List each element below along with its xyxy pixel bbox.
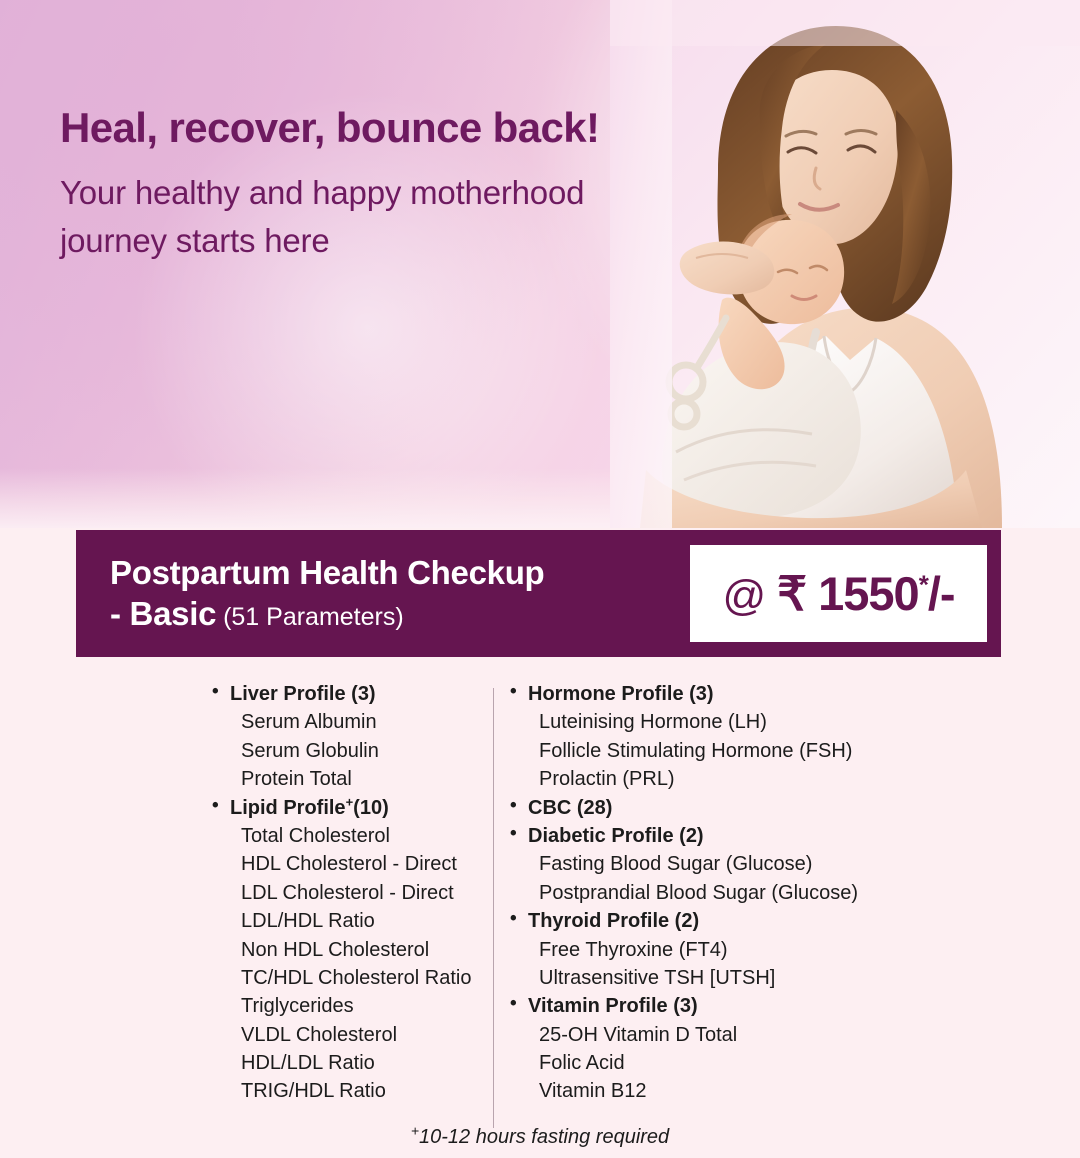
parameter-group-heading: Liver Profile (3)	[210, 680, 480, 708]
parameter-item: Fasting Blood Sugar (Glucose)	[508, 850, 928, 878]
price-currency-symbol: ₹	[777, 567, 806, 620]
package-title-line2: - Basic (51 Parameters)	[110, 594, 690, 634]
parameter-group-heading: Hormone Profile (3)	[508, 680, 928, 708]
column-divider	[493, 688, 494, 1128]
parameters-left-column: Liver Profile (3) Serum Albumin Serum Gl…	[210, 680, 480, 1106]
parameter-item: Non HDL Cholesterol	[210, 936, 480, 964]
package-title-block: Postpartum Health Checkup - Basic (51 Pa…	[76, 553, 690, 634]
parameter-group-heading: Thyroid Profile (2)	[508, 907, 928, 935]
parameter-group: Liver Profile (3) Serum Albumin Serum Gl…	[210, 680, 480, 794]
postpartum-health-checkup-poster: Heal, recover, bounce back! Your healthy…	[0, 0, 1080, 1158]
package-title-bar: Postpartum Health Checkup - Basic (51 Pa…	[76, 530, 1001, 657]
parameter-item: Folic Acid	[508, 1049, 928, 1077]
parameter-item: VLDL Cholesterol	[210, 1021, 480, 1049]
parameters-right-column: Hormone Profile (3) Luteinising Hormone …	[508, 680, 928, 1106]
parameter-item: Postprandial Blood Sugar (Glucose)	[508, 879, 928, 907]
parameter-item: Follicle Stimulating Hormone (FSH)	[508, 737, 928, 765]
price-text: @ ₹ 1550*/-	[722, 570, 954, 618]
package-parameter-count: (51 Parameters)	[216, 603, 404, 631]
footnote-text: 10-12 hours fasting required	[419, 1126, 669, 1148]
parameter-item: HDL/LDL Ratio	[210, 1049, 480, 1077]
parameter-item: HDL Cholesterol - Direct	[210, 850, 480, 878]
parameter-item: TRIG/HDL Ratio	[210, 1077, 480, 1105]
package-variant-label: - Basic	[110, 595, 216, 632]
parameter-group: Lipid Profile+(10) Total Cholesterol HDL…	[210, 794, 480, 1106]
footnote-superscript-marker: +	[411, 1122, 419, 1138]
parameter-group: Hormone Profile (3) Luteinising Hormone …	[508, 680, 928, 794]
parameter-item: Prolactin (PRL)	[508, 765, 928, 793]
price-amount: 1550	[818, 567, 919, 620]
parameter-group: CBC (28)	[508, 794, 928, 822]
parameter-item: Serum Albumin	[210, 708, 480, 736]
hero-headline: Heal, recover, bounce back!	[60, 105, 700, 151]
parameter-item: Vitamin B12	[508, 1077, 928, 1105]
parameter-group-heading: Diabetic Profile (2)	[508, 822, 928, 850]
hero-text-block: Heal, recover, bounce back! Your healthy…	[60, 105, 700, 266]
hero-subheadline: Your healthy and happy motherhood journe…	[60, 169, 700, 265]
parameter-item: Free Thyroxine (FT4)	[508, 936, 928, 964]
parameter-item: TC/HDL Cholesterol Ratio	[210, 964, 480, 992]
parameter-group-heading: Lipid Profile+(10)	[210, 794, 480, 822]
parameter-group-name: Lipid Profile	[230, 797, 346, 819]
package-title-line1: Postpartum Health Checkup	[110, 553, 690, 593]
parameter-item: Protein Total	[210, 765, 480, 793]
parameter-item: Total Cholesterol	[210, 822, 480, 850]
parameter-item: LDL Cholesterol - Direct	[210, 879, 480, 907]
parameters-section: Liver Profile (3) Serum Albumin Serum Gl…	[0, 680, 1080, 1128]
parameter-item: LDL/HDL Ratio	[210, 907, 480, 935]
parameter-group-heading: Vitamin Profile (3)	[508, 992, 928, 1020]
parameter-item: Triglycerides	[210, 992, 480, 1020]
fasting-footnote: +10-12 hours fasting required	[0, 1126, 1080, 1149]
parameter-group: Thyroid Profile (2) Free Thyroxine (FT4)…	[508, 907, 928, 992]
price-box: @ ₹ 1550*/-	[690, 545, 987, 642]
parameter-group-heading: CBC (28)	[508, 794, 928, 822]
hero-banner: Heal, recover, bounce back! Your healthy…	[0, 0, 1080, 528]
parameter-item: 25-OH Vitamin D Total	[508, 1021, 928, 1049]
price-at-symbol: @	[722, 572, 765, 620]
parameter-group-count: (10)	[353, 797, 389, 819]
parameter-item: Luteinising Hormone (LH)	[508, 708, 928, 736]
parameter-group: Vitamin Profile (3) 25-OH Vitamin D Tota…	[508, 992, 928, 1106]
parameter-group: Diabetic Profile (2) Fasting Blood Sugar…	[508, 822, 928, 907]
price-suffix: /-	[928, 567, 955, 620]
parameter-item: Ultrasensitive TSH [UTSH]	[508, 964, 928, 992]
parameter-item: Serum Globulin	[210, 737, 480, 765]
price-asterisk: *	[919, 569, 928, 599]
